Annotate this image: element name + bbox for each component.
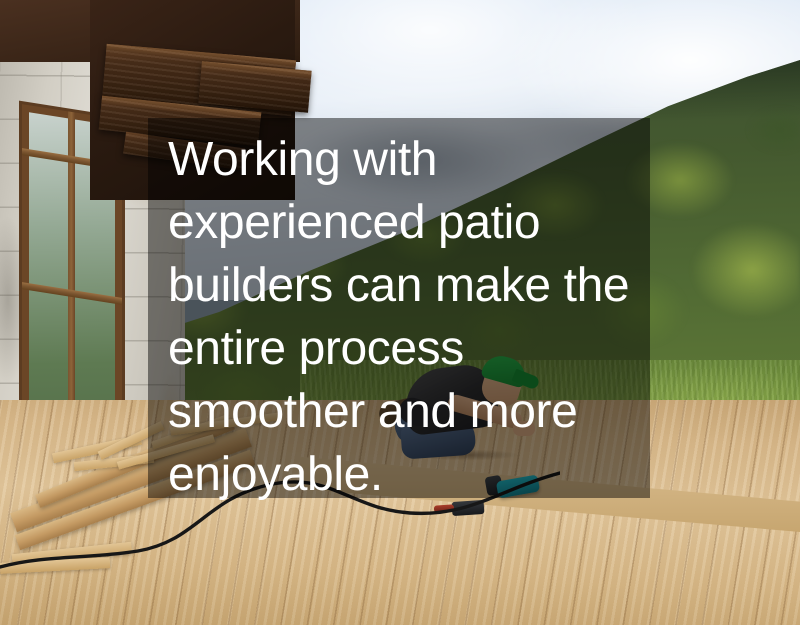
screenshot-root: Working with experienced patio builders … xyxy=(0,0,800,625)
headline-text: Working with experienced patio builders … xyxy=(168,128,648,506)
